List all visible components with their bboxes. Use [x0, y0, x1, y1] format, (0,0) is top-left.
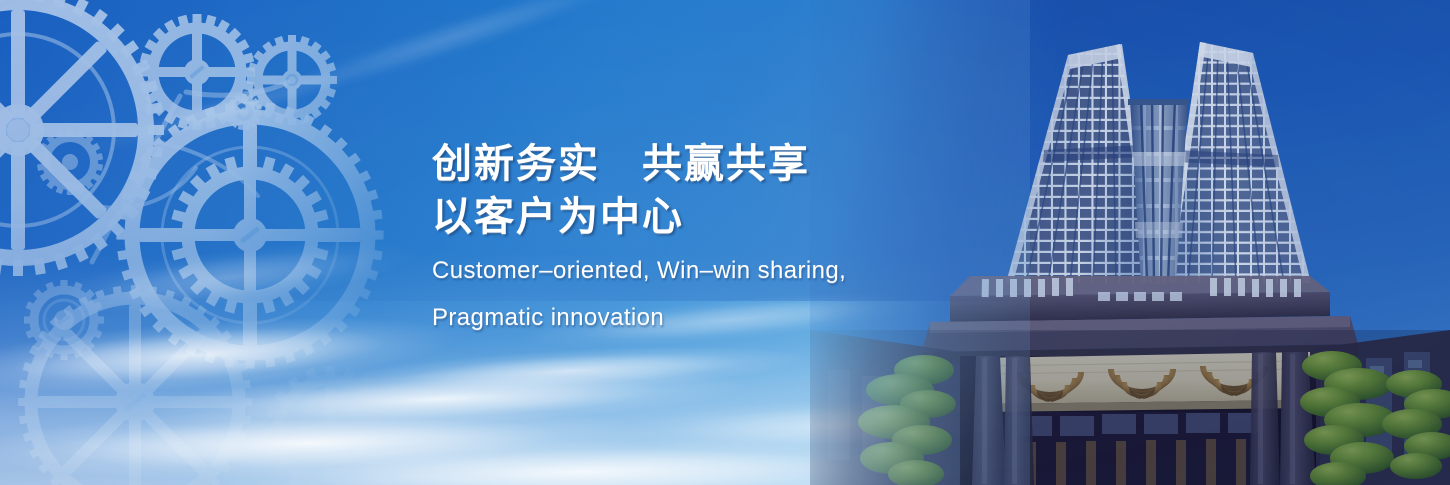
banner-copy: 创新务实 共赢共享 以客户为中心 Customer–oriented, Win–… [432, 138, 992, 338]
headline-line-2: 以客户为中心 [432, 191, 992, 244]
gears-decoration [0, 0, 440, 485]
subheadline-line-2: Pragmatic innovation [432, 299, 992, 338]
headline-line-1: 创新务实 共赢共享 [432, 138, 992, 191]
corporate-banner: 创新务实 共赢共享 以客户为中心 Customer–oriented, Win–… [0, 0, 1450, 485]
subheadline-line-1: Customer–oriented, Win–win sharing, [432, 252, 992, 291]
